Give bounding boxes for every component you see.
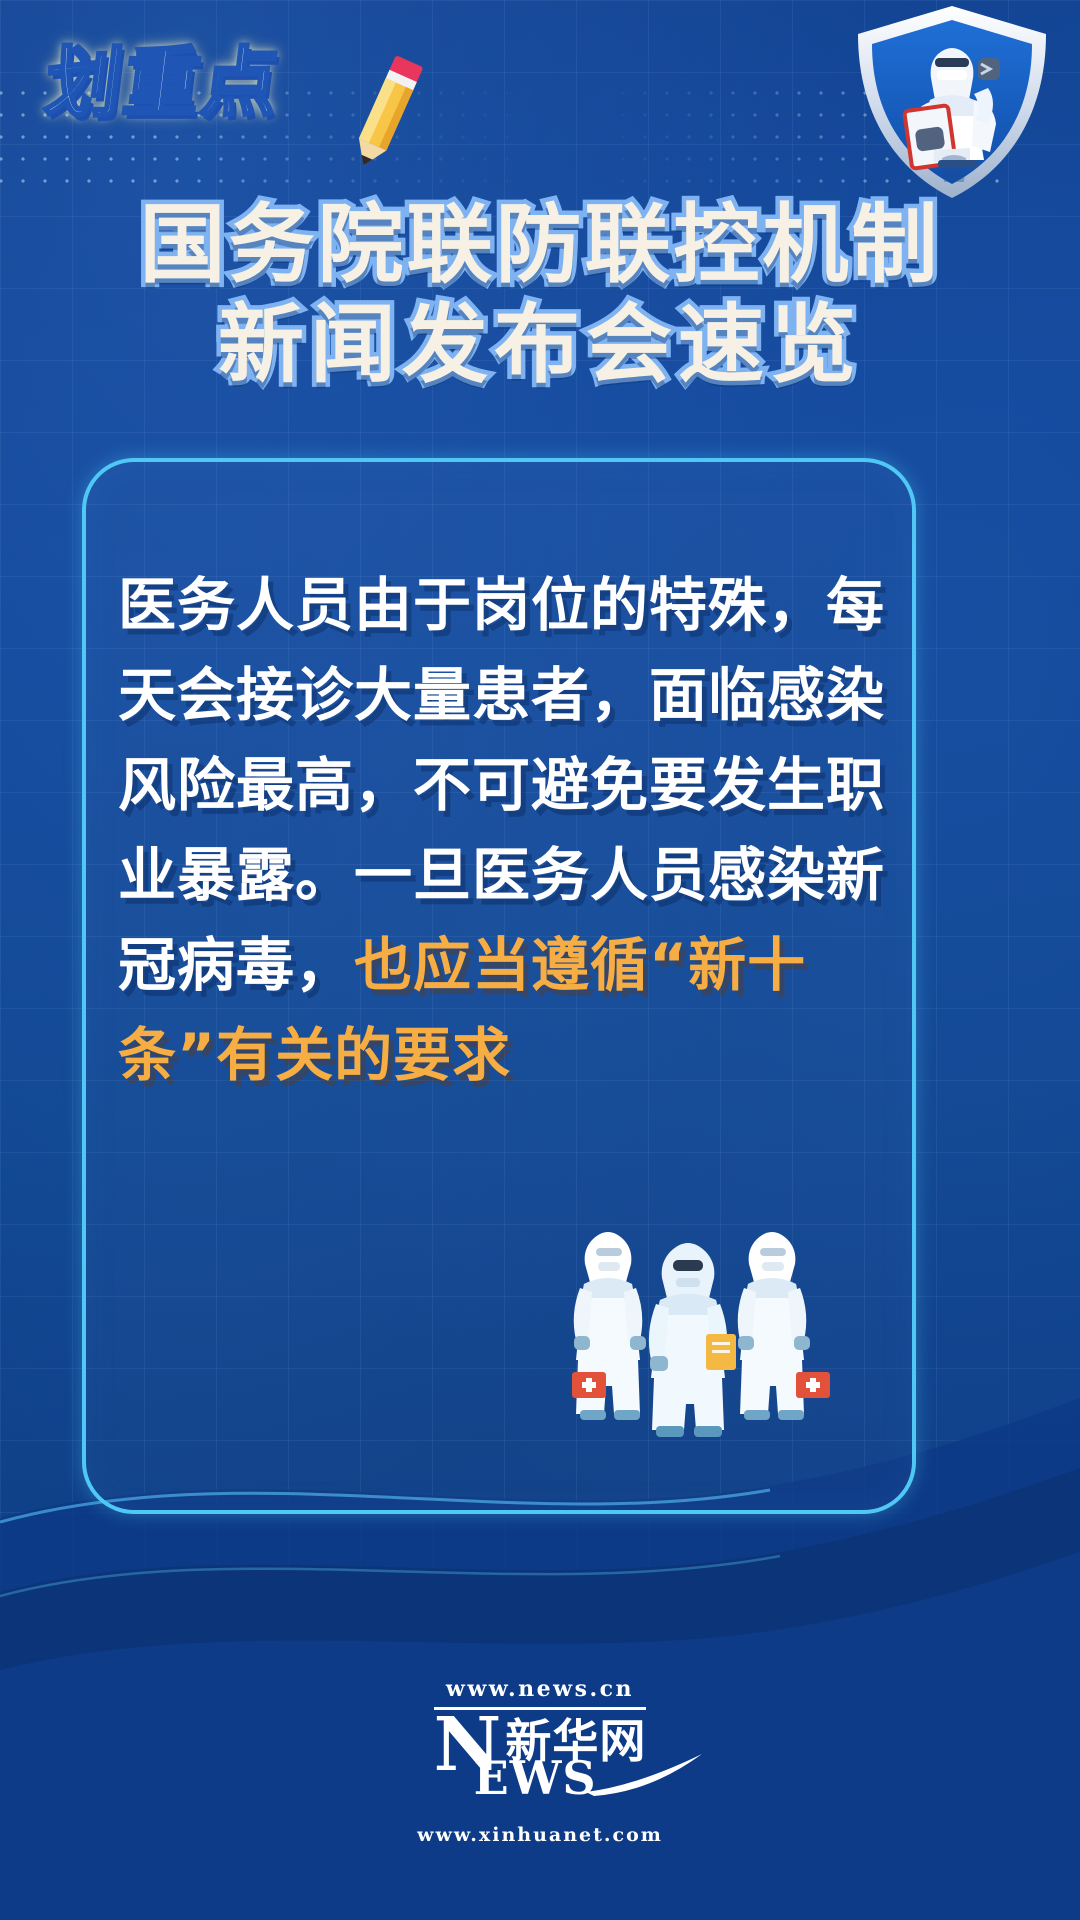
worker-middle <box>649 1243 736 1437</box>
kicker-label: 划重点 <box>41 46 380 122</box>
worker-right <box>738 1232 830 1420</box>
three-medical-workers-in-ppe-icon <box>556 1196 856 1446</box>
footer-url-bottom: www.xinhuanet.com <box>0 1824 1080 1846</box>
xinhua-logo: N新华网 EWS <box>434 1714 647 1790</box>
worker-left <box>572 1232 646 1420</box>
swoosh-icon <box>584 1752 704 1798</box>
footer-url-top: www.news.cn <box>0 1676 1080 1702</box>
page-title-line-1: 国务院联防联控机制 <box>0 196 1080 296</box>
logo-letters-ews: EWS <box>474 1758 597 1798</box>
footer-branding: www.news.cn N新华网 EWS www.xinhuanet.com <box>0 1676 1080 1846</box>
poster-root: 划重点 <box>0 0 1080 1920</box>
page-title-line-2: 新闻发布会速览 <box>0 296 1080 396</box>
body-text: 医务人员由于岗位的特殊，每天会接诊大量患者，面临感染风险最高，不可避免要发生职业… <box>118 560 888 1100</box>
pencil-icon <box>338 48 434 176</box>
shield-medical-worker-icon <box>842 0 1062 205</box>
kicker-badge: 划重点 <box>46 46 376 166</box>
page-title: 国务院联防联控机制 新闻发布会速览 <box>0 196 1080 396</box>
